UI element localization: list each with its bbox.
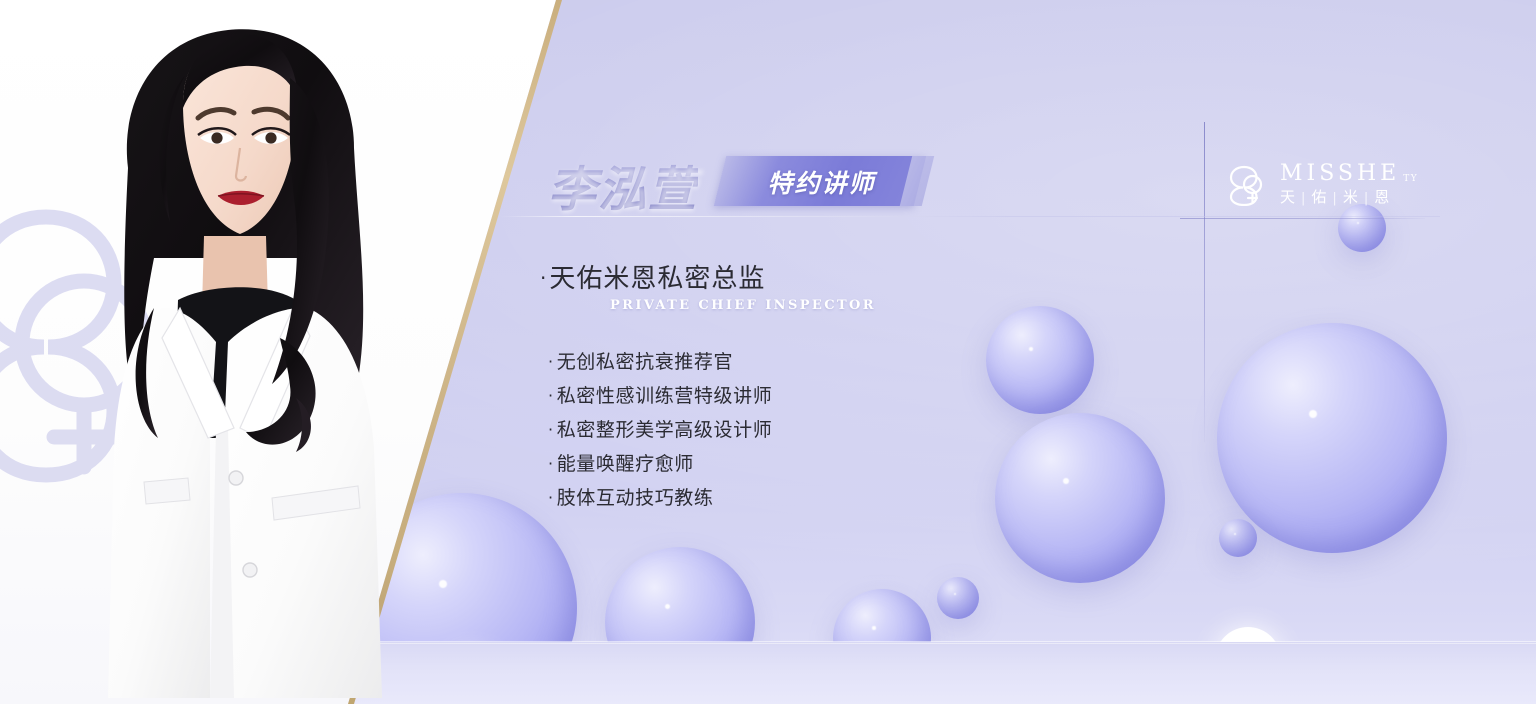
credential-item: ·私密性感训练营特级讲师 (548, 379, 772, 413)
credentials-list: ·无创私密抗衰推荐官·私密性感训练营特级讲师·私密整形美学高级设计师·能量唤醒疗… (548, 345, 772, 515)
brand-name-en: MISSHETY (1280, 163, 1418, 185)
brand-logo: MISSHETY 天|佑|米|恩 (1224, 162, 1418, 206)
credential-item: ·肢体互动技巧教练 (548, 481, 772, 515)
credential-text: 肢体互动技巧教练 (557, 487, 714, 509)
credential-text: 无创私密抗衰推荐官 (557, 351, 733, 373)
brand-name-en-text: MISSHE (1280, 161, 1400, 186)
credential-bullet-dot: · (548, 352, 554, 371)
credential-bullet-dot: · (548, 420, 554, 439)
brand-cn-char: 佑 (1311, 188, 1330, 206)
brand-wordmark: MISSHETY 天|佑|米|恩 (1280, 163, 1418, 205)
brand-cn-char: 恩 (1374, 188, 1393, 206)
role-bullet-dot: · (540, 266, 547, 290)
brand-cn-char: 米 (1343, 188, 1362, 206)
credential-text: 能量唤醒疗愈师 (557, 453, 694, 475)
credential-bullet-dot: · (548, 488, 554, 507)
brand-name-cn: 天|佑|米|恩 (1280, 190, 1418, 205)
credential-bullet-dot: · (548, 454, 554, 473)
brand-cn-separator: | (1364, 191, 1372, 206)
credential-item: ·私密整形美学高级设计师 (548, 413, 772, 447)
role-title-en: PRIVATE CHIEF INSPECTOR (610, 298, 876, 313)
brand-cn-separator: | (1332, 191, 1340, 206)
role-group: ·天佑米恩私密总监 PRIVATE CHIEF INSPECTOR (540, 258, 876, 313)
credential-bullet-dot: · (548, 386, 554, 405)
brand-suffix: TY (1403, 174, 1418, 184)
content-layer: 李泓萱 特约讲师 ·天佑米恩私密总监 PRIVATE CHIEF INSPECT… (0, 0, 1536, 704)
butterfly-venus-logo-icon (1224, 162, 1268, 206)
brand-cn-separator: | (1301, 191, 1309, 206)
credential-text: 私密整形美学高级设计师 (557, 419, 773, 441)
credential-item: ·能量唤醒疗愈师 (548, 447, 772, 481)
credential-text: 私密性感训练营特级讲师 (557, 385, 773, 407)
instructor-name: 李泓萱 (548, 150, 698, 220)
banner-canvas: 李泓萱 特约讲师 ·天佑米恩私密总监 PRIVATE CHIEF INSPECT… (0, 0, 1536, 704)
credential-item: ·无创私密抗衰推荐官 (548, 345, 772, 379)
vertical-accent-line (1204, 122, 1205, 442)
horizontal-accent-line (1180, 218, 1425, 219)
brand-cn-char: 天 (1280, 188, 1299, 206)
role-title-cn: ·天佑米恩私密总监 (540, 258, 876, 295)
role-title-cn-text: 天佑米恩私密总监 (549, 264, 765, 294)
role-badge-label: 特约讲师 (734, 164, 909, 200)
